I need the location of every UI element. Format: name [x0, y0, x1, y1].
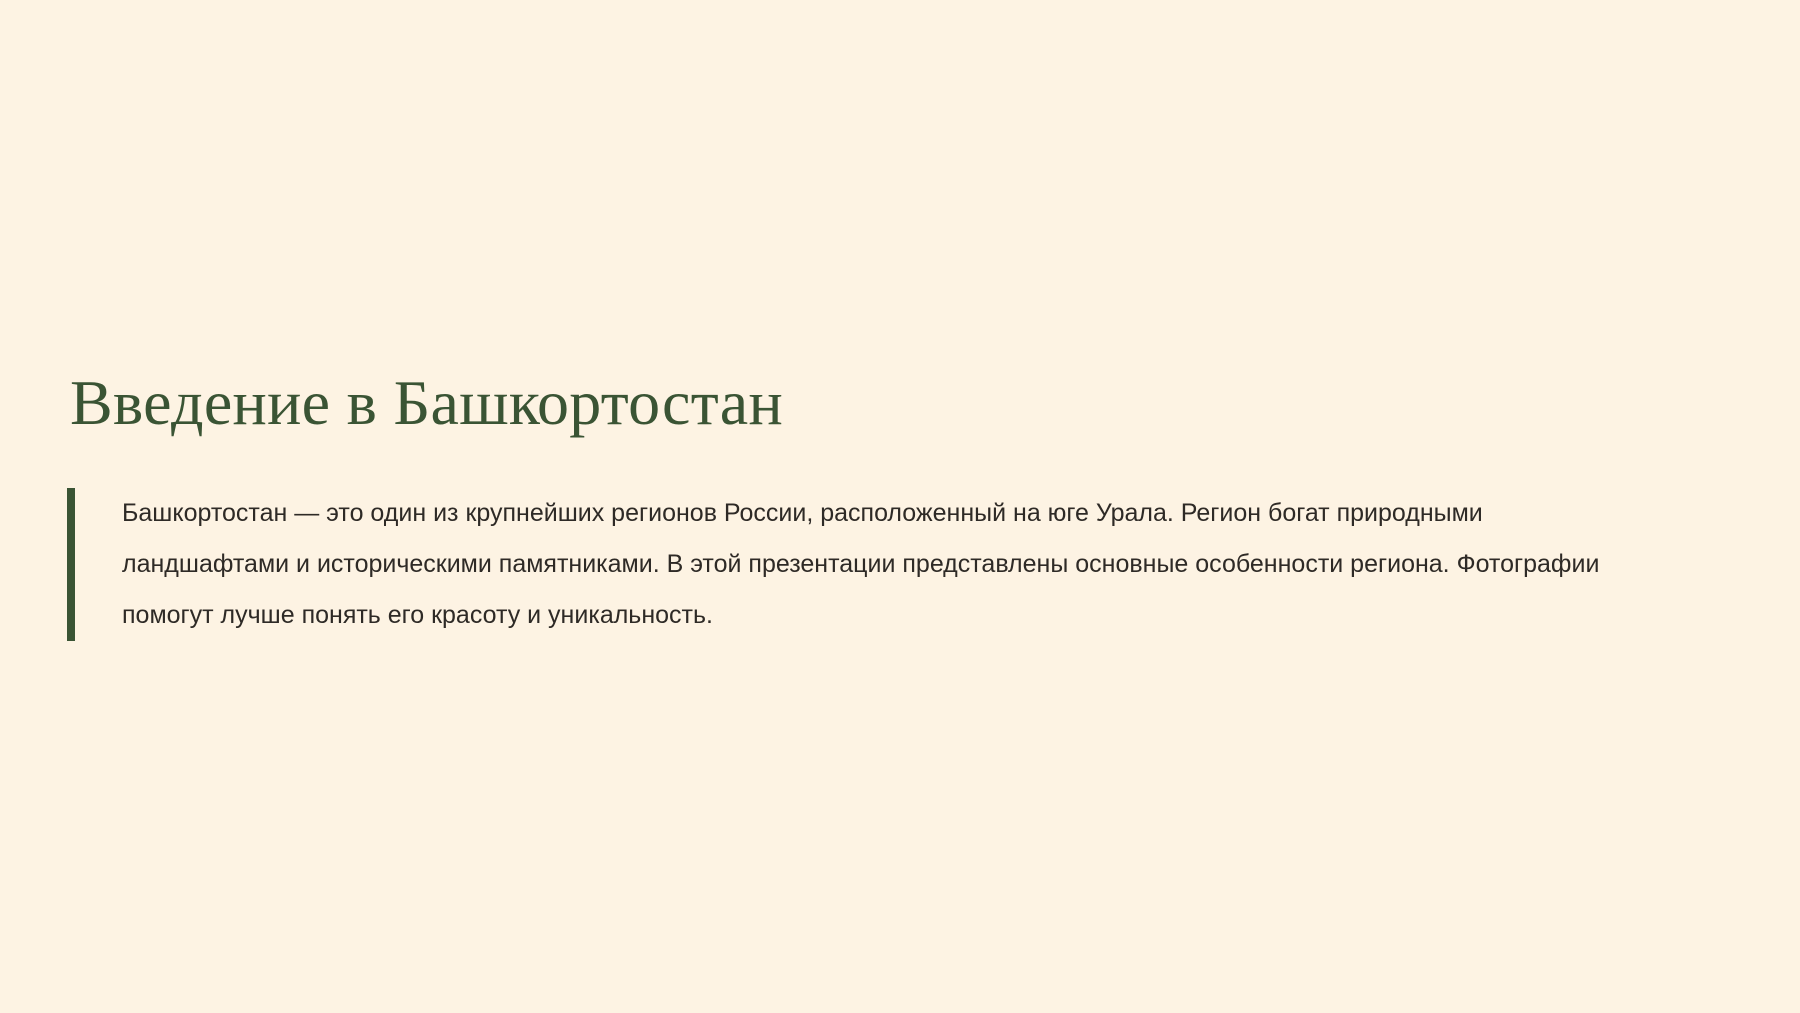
- body-callout: Башкортостан — это один из крупнейших ре…: [67, 488, 1667, 641]
- slide-title: Введение в Башкортостан: [70, 370, 783, 437]
- presentation-slide: Введение в Башкортостан Башкортостан — э…: [0, 0, 1800, 1013]
- accent-bar: [67, 488, 75, 641]
- slide-body-text: Башкортостан — это один из крупнейших ре…: [75, 488, 1632, 641]
